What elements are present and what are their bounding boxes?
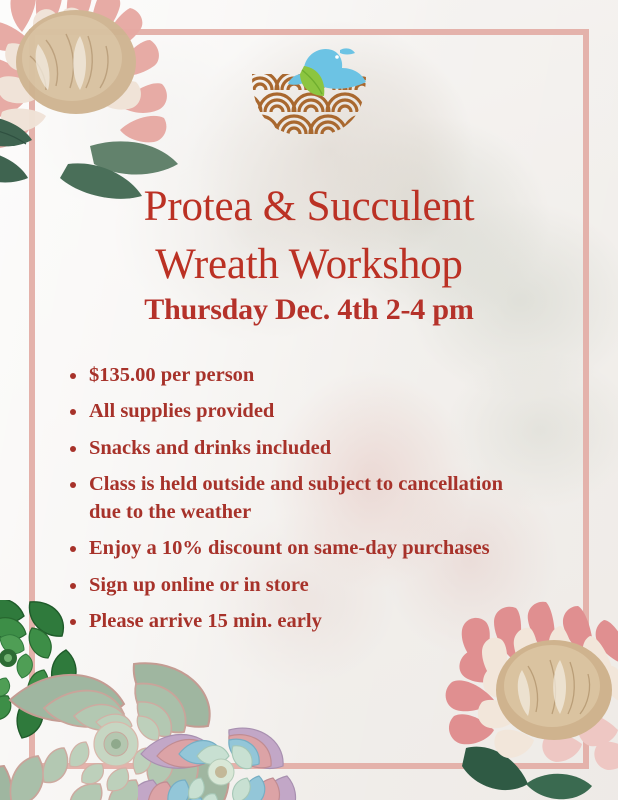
list-item: Please arrive 15 min. early [68, 608, 528, 635]
flyer-content: Protea & Succulent Wreath Workshop Thurs… [0, 0, 618, 800]
event-datetime: Thursday Dec. 4th 2-4 pm [60, 293, 558, 327]
list-item: Snacks and drinks included [68, 435, 528, 462]
list-item: Enjoy a 10% discount on same-day purchas… [68, 535, 528, 562]
list-item: Class is held outside and subject to can… [68, 471, 528, 526]
page-title: Protea & Succulent Wreath Workshop [60, 178, 558, 295]
details-list: $135.00 per person All supplies provided… [68, 362, 528, 645]
list-item: Sign up online or in store [68, 572, 528, 599]
title-line-1: Protea & Succulent [60, 178, 558, 236]
list-item: $135.00 per person [68, 362, 528, 389]
flyer-page: Protea & Succulent Wreath Workshop Thurs… [0, 0, 618, 800]
list-item: All supplies provided [68, 398, 528, 425]
title-line-2: Wreath Workshop [60, 236, 558, 294]
